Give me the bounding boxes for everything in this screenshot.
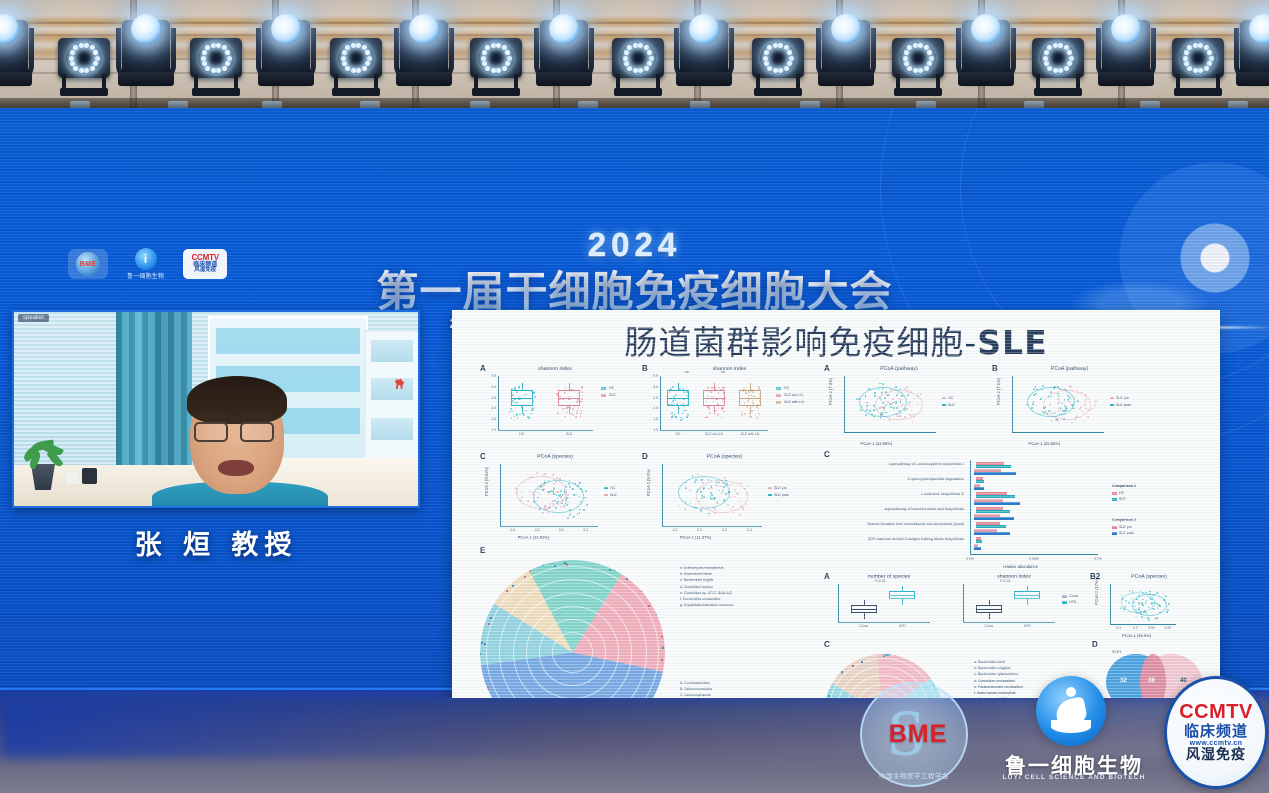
B-y-tick: 3.5 <box>646 374 658 378</box>
A-y-tick: 1.5 <box>484 417 496 421</box>
C-bar-post-5 <box>974 547 981 550</box>
panel-right-A2: Anumber of speciesshannon indexChowHFDP<… <box>824 572 1084 634</box>
C-y-axis <box>970 460 971 554</box>
D-y-axis <box>662 464 663 526</box>
C-legend-1-1: SLE post <box>1119 531 1134 535</box>
D-panel-title: PCoA (species) <box>642 454 807 460</box>
C-bar-sle-1 <box>976 480 984 483</box>
moving-head-spot-light <box>962 8 1022 104</box>
par-can-light <box>612 8 672 104</box>
C-pathway-label-4: thiazole formation from aminothiazole an… <box>824 522 964 526</box>
A-median-1 <box>558 398 580 399</box>
ccmtv-topic: 风湿免疫 <box>1186 748 1246 763</box>
A-x-tick: SLE <box>553 432 585 436</box>
C-bar-hc-4 <box>976 522 1000 525</box>
D-x-tick: 0.0 <box>691 528 709 532</box>
A2-panel-label: A <box>824 572 830 581</box>
D-x-tick: 0.2 <box>716 528 734 532</box>
moving-head-spot-light <box>822 8 882 104</box>
video-cup <box>66 472 79 484</box>
C-bar-hc-0 <box>976 462 1004 465</box>
slide-title-cn: 肠道菌群影响免疫细胞- <box>624 323 977 362</box>
C-legend-1: SLE <box>610 493 617 497</box>
C-pathway-label-3: superpathway of branched amino acid bios… <box>824 507 964 511</box>
A-x-label: PCoA 1 (32.98%) <box>861 441 893 446</box>
video-badge: speaker <box>18 314 49 322</box>
panel-left-E: Ea: Actinomyces massiliensisb: Anaerobiu… <box>480 546 810 698</box>
moving-head-spot-light <box>540 8 600 104</box>
C-x-tick: 0.1% <box>1090 557 1106 561</box>
par-can-light <box>1032 8 1092 104</box>
B-panel-title: PCoA (pathway) <box>992 366 1147 372</box>
panel-left-C: CPCoA (species)-0.4-0.20.00.2PCoA 1 (13.… <box>480 452 630 544</box>
B2-y-label: PCoA 2 (17%) <box>1094 579 1099 605</box>
B-legend-2: SLE with LN <box>784 400 804 404</box>
D-x-axis <box>662 526 762 527</box>
B-x-tick: HC <box>662 432 694 436</box>
E-key-bottom-0: A: Coriobacteriales <box>680 681 710 686</box>
par-can-light <box>752 8 812 104</box>
stage-scene: BME i 鲁一细胞生物 CCMTV 临床频道 风湿免疫 2024 第一届干细胞… <box>0 0 1269 793</box>
A-y-tick: 1.0 <box>484 428 496 432</box>
B-y-tick: 1.5 <box>646 417 658 421</box>
B2-x-tick: -0.4 <box>1109 626 1127 630</box>
B-sig-1: ns <box>721 370 725 374</box>
luyi-name-en: LUYI CELL SCIENCE AND BIOTECH <box>994 774 1154 781</box>
D-y-label: PCoA 2 (9.2%) <box>646 469 651 496</box>
C-bar-post-0 <box>974 472 1016 475</box>
B2-x-axis <box>1110 624 1176 625</box>
speaker-name-label: 张 烜 教授 <box>12 523 420 562</box>
A2-x-axis-1 <box>963 622 1055 623</box>
par-can-light <box>190 8 250 104</box>
B-legend-0: SLE pre <box>1116 396 1129 400</box>
C-x-label: PCoA 1 (13.81%) <box>518 535 550 540</box>
par-can-light <box>470 8 530 104</box>
C-bar-sle-0 <box>976 465 1011 468</box>
B2-x-tick: -0.2 <box>1126 626 1144 630</box>
B-x-tick: SLE with LN <box>734 432 766 436</box>
B-legend-1: SLE post <box>1116 403 1131 407</box>
A-panel-title: shannon index <box>480 366 630 372</box>
ccmtv-logo: CCMTV 临床频道 www.ccmtv.cn 风湿免疫 <box>1164 676 1268 789</box>
C-y-axis <box>500 464 501 526</box>
bme-org-name-cn: 中国生物医学工程学会 <box>860 770 968 780</box>
C-x-tick: 0.05% <box>1026 557 1042 561</box>
A2-x-tick-1-1: HFD <box>1013 624 1041 628</box>
par-can-light <box>1172 8 1232 104</box>
panel-left-B: Bshannon index3.53.02.52.01.51.0HCSLE w/… <box>642 364 817 442</box>
E-key-top-1: b: Anaerobium bleae <box>680 572 712 577</box>
panel-left-D: DPCoA (species)-0.20.00.20.4PCoA 1 (11.3… <box>642 452 807 544</box>
C-x-tick: -0.4 <box>503 528 521 532</box>
C-legend-0: HC <box>610 486 615 490</box>
C-bar-pre-0 <box>974 469 1001 472</box>
A-y-label: PCoA 2 (7.3%) <box>828 378 833 405</box>
A-x-axis <box>844 432 936 433</box>
C-bar-post-4 <box>974 532 1010 535</box>
A2-legend-0: Chow <box>1069 594 1078 598</box>
A-y-tick: 2.5 <box>484 396 496 400</box>
led-backdrop-screen: BME i 鲁一细胞生物 CCMTV 临床频道 风湿免疫 2024 第一届干细胞… <box>0 108 1269 698</box>
par-can-light <box>892 8 952 104</box>
D2-panel-label: D <box>1092 640 1098 649</box>
C-pathway-label-0: superpathway of L-selenocysteine biosynt… <box>824 462 964 466</box>
C-ellipse-1 <box>516 476 567 509</box>
A-y-axis <box>498 376 499 430</box>
B2-ellipse-1 <box>1121 592 1155 614</box>
moving-head-spot-light <box>680 8 740 104</box>
eyeglasses-left-icon <box>194 422 228 442</box>
D-x-tick: -0.2 <box>666 528 684 532</box>
C-legend-1-0: SLE pre <box>1119 525 1132 529</box>
A-y-tick: 2.0 <box>484 406 496 410</box>
C-x-tick: 0.0% <box>962 557 978 561</box>
C-x-tick: -0.2 <box>528 528 546 532</box>
E-key-bottom-2: C: Lachnospiraceae <box>680 693 711 698</box>
panel-right-A: APCoA (pathway)PCoA 1 (32.98%)PCoA 2 (7.… <box>824 364 974 444</box>
E-panel-label: E <box>480 546 485 555</box>
D2-left-label-0: SLE1 <box>1112 649 1122 654</box>
A2-x-tick-0-0: Chow <box>850 624 878 628</box>
C2-key-top-1: b: Bacteroides vulgatus <box>974 666 1010 671</box>
B-median-1 <box>703 398 725 399</box>
E-key-top-0: a: Actinomyces massiliensis <box>680 566 723 571</box>
C-bar-post-1 <box>974 487 984 490</box>
E-key-top-3: d: Clostridium leptum <box>680 585 713 590</box>
C-bar-sle-5 <box>976 540 982 543</box>
eyeglasses-right-icon <box>240 422 274 442</box>
C-y-label: PCoA 2 (9.61%) <box>484 467 489 496</box>
moving-head-spot-light <box>122 8 182 104</box>
C-bar-hc-2 <box>976 492 1007 495</box>
D-x-label: PCoA 1 (11.37%) <box>680 535 711 540</box>
B2-x-tick: 0.25 <box>1159 626 1177 630</box>
C-bar-pre-3 <box>974 514 1000 517</box>
luyi-mark-icon <box>1036 676 1106 746</box>
C2-panel-label: C <box>824 640 830 649</box>
A-median-0 <box>511 398 533 399</box>
C-legend-0-0: HC <box>1119 491 1124 495</box>
C-legend-group-1: Comparison 2 <box>1112 518 1136 522</box>
A-y-tick: 3.5 <box>484 374 496 378</box>
B-x-axis <box>1012 432 1104 433</box>
A-y-tick: 3.0 <box>484 385 496 389</box>
C-pathway-label-5: GDP-mannose-derived O-antigen building b… <box>824 537 964 541</box>
luyi-logo: 鲁一细胞生物 LUYI CELL SCIENCE AND BIOTECH <box>994 676 1154 790</box>
video-shelf <box>364 330 420 460</box>
video-container <box>82 468 97 484</box>
C-x-label: relative abundance <box>1003 564 1038 569</box>
A-legend-1: SLE <box>948 403 955 407</box>
panel-right-C: Csuperpathway of L-selenocysteine biosyn… <box>824 450 1154 568</box>
A-x-tick: HC <box>506 432 538 436</box>
B-median-0 <box>667 398 689 399</box>
A2-x-axis-0 <box>838 622 930 623</box>
par-can-light <box>58 8 118 104</box>
speaker-video-feed[interactable]: speaker <box>12 310 420 508</box>
moving-head-spot-light <box>400 8 460 104</box>
B-x-axis <box>660 430 768 431</box>
A2-sig-0: P<0.01 <box>875 579 886 583</box>
lighting-truss <box>0 0 1269 112</box>
B-y-label: PCoA 2 (7.1%) <box>996 378 1001 405</box>
E-cladogram <box>480 560 665 698</box>
C2-key-top-0: a: Bacteroides dorei <box>974 660 1005 665</box>
B-y-tick: 1.0 <box>646 428 658 432</box>
moving-head-spot-light <box>0 8 40 104</box>
D-legend-0: SLE pre <box>774 486 787 490</box>
C-bar-sle-3 <box>976 510 1010 513</box>
A-panel-title: PCoA (pathway) <box>824 366 974 372</box>
B-median-2 <box>739 398 761 399</box>
C-bar-post-3 <box>974 517 1014 520</box>
par-can-light <box>330 8 390 104</box>
C-bar-hc-3 <box>976 507 1003 510</box>
C-bar-hc-1 <box>976 477 983 480</box>
C-pathway-label-2: L-isoleucine biosynthesis III <box>824 492 964 496</box>
A-y-axis <box>844 376 845 432</box>
B2-y-axis <box>1110 584 1111 624</box>
C-bar-sle-2 <box>976 495 1015 498</box>
A2-title-1: number of species <box>834 574 944 580</box>
B2-x-tick: 0.00 <box>1142 626 1160 630</box>
moving-head-spot-light <box>1240 8 1269 104</box>
slide-title-en: SLE <box>977 323 1047 362</box>
C-bar-pre-4 <box>974 529 997 532</box>
C-bar-pre-2 <box>974 499 1003 502</box>
C-x-axis <box>970 554 1098 555</box>
B-y-tick: 2.0 <box>646 406 658 410</box>
C-bar-pre-1 <box>974 484 980 487</box>
B-legend-0: HC <box>784 386 789 390</box>
ccmtv-url: www.ccmtv.cn <box>1190 740 1243 747</box>
A2-legend-1: HFD <box>1069 600 1076 604</box>
A-legend-1: SLE <box>609 393 616 397</box>
ccmtv-brand: CCMTV <box>1179 702 1253 722</box>
A2-x-tick-0-1: HFD <box>888 624 916 628</box>
panel-right-B: BPCoA (pathway)PCoA 1 (26.80%)PCoA 2 (7.… <box>992 364 1147 444</box>
A-ellipse-1 <box>859 387 907 417</box>
E-key-bottom-1: B: Selenomonadales <box>680 687 712 692</box>
E-key-top-6: g: Erysipelatoclostridium ramosum <box>680 603 734 608</box>
ccmtv-channel: 临床频道 <box>1184 723 1248 740</box>
panel-right-B2: B2PCoA (species)-0.4-0.20.000.25PCoA 1 (… <box>1090 572 1208 634</box>
D-ellipse-1 <box>678 476 730 509</box>
B-legend-1: SLE w/o LN <box>784 393 803 397</box>
bme-abbr: BME <box>864 720 972 749</box>
C-x-tick: 0.2 <box>577 528 595 532</box>
C-bar-hc-5 <box>976 537 981 540</box>
B2-panel-title: PCoA (species) <box>1090 574 1208 580</box>
A2-sig-1: P<0.01 <box>1000 579 1011 583</box>
moving-head-spot-light <box>1102 8 1162 104</box>
A-legend-0: HC <box>609 386 614 390</box>
C-bar-sle-4 <box>976 525 1006 528</box>
C-pathway-label-1: 4-hydroxyphenylacetate degradation <box>824 477 964 481</box>
B-x-tick: SLE w/o LN <box>698 432 730 436</box>
C-panel-title: PCoA (species) <box>480 454 630 460</box>
bottom-logo-row: S BME 中国生物医学工程学会 鲁一细胞生物 LUYI CELL SCIENC… <box>848 672 1269 793</box>
B-y-tick: 3.0 <box>646 385 658 389</box>
B-y-axis <box>660 376 661 430</box>
moving-head-spot-light <box>262 8 322 104</box>
C-x-axis <box>500 526 598 527</box>
C-panel-label: C <box>824 450 830 459</box>
speaker-mouth <box>218 460 254 476</box>
A-x-axis <box>498 430 593 431</box>
D-legend-1: SLE post <box>774 493 789 497</box>
B-y-axis <box>1012 376 1013 432</box>
E-key-top-4: e: Clostridium sp. ATCC BAA-442 <box>680 591 732 596</box>
D-x-tick: 0.4 <box>741 528 759 532</box>
C-legend-0-1: SLE <box>1119 497 1126 501</box>
B-panel-title: shannon index <box>642 366 817 372</box>
slide-title: 肠道菌群影响免疫细胞-SLE <box>452 316 1220 364</box>
C-bar-pre-5 <box>974 544 978 547</box>
A-legend-0: HC <box>948 396 953 400</box>
A2-y-axis-1 <box>963 584 964 622</box>
presentation-slide[interactable]: 肠道菌群影响免疫细胞-SLE Ashannon index3.53.02.52.… <box>452 310 1220 698</box>
B-ellipse-1 <box>1027 387 1075 417</box>
A2-y-axis-0 <box>838 584 839 622</box>
C-legend-group-0: Comparison 1 <box>1112 484 1136 488</box>
bme-logo: S BME 中国生物医学工程学会 <box>860 682 968 787</box>
E-key-top-2: c: Bacteroides fragilis <box>680 578 713 583</box>
B-x-label: PCoA 1 (26.80%) <box>1029 441 1061 446</box>
A2-title-2: shannon index <box>959 574 1069 580</box>
E-key-top-5: f: Escherichia unclassified <box>680 597 720 602</box>
C-x-tick: 0.0 <box>552 528 570 532</box>
A2-x-tick-1-0: Chow <box>975 624 1003 628</box>
B-sig-0: ns <box>685 370 689 374</box>
B-y-tick: 2.5 <box>646 396 658 400</box>
B2-x-label: PCoA 1 (46.6%) <box>1122 633 1151 638</box>
C-bar-post-2 <box>974 502 1020 505</box>
panel-left-A: Ashannon index3.53.02.52.01.51.0HCSLEHCS… <box>480 364 630 442</box>
